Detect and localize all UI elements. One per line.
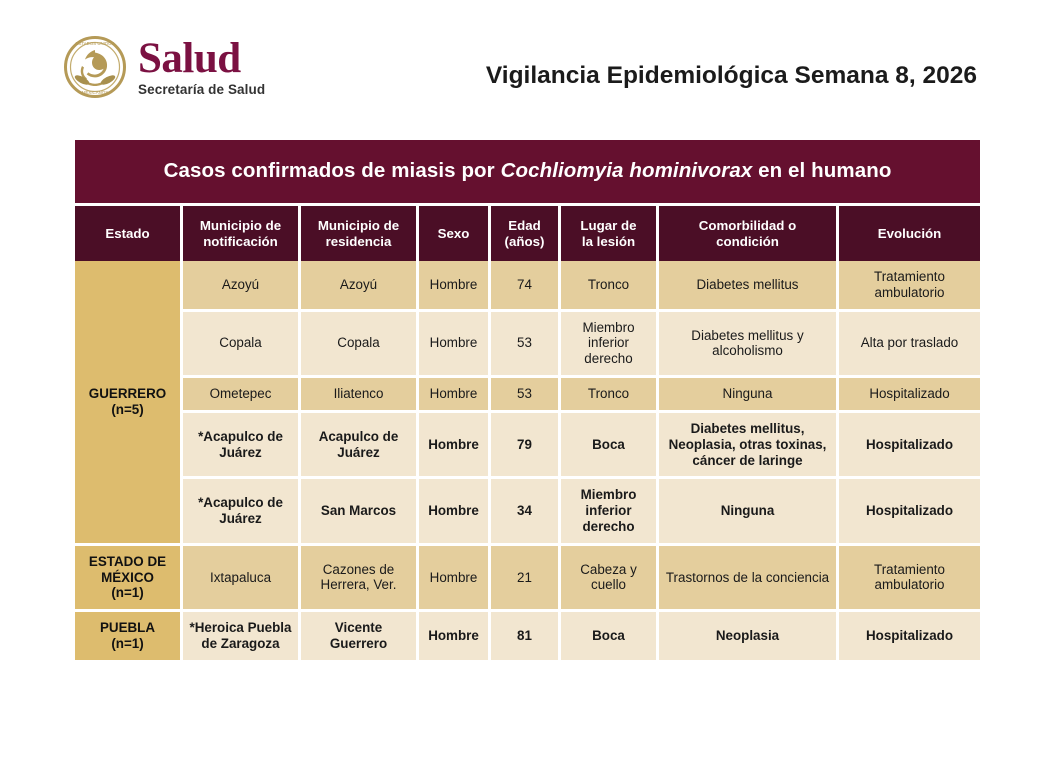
state-count: (n=1) xyxy=(111,636,143,651)
table-row: *Acapulco de Juárez San Marcos Hombre 34… xyxy=(75,479,980,545)
cell-comorbilidad: Ninguna xyxy=(659,479,839,545)
salud-brand: ESTADOS UNIDOS MEXICANOS Salud Secretarí… xyxy=(64,36,265,98)
column-header-municipio-notificacion-line1: Municipio de xyxy=(200,218,281,233)
cell-edad: 79 xyxy=(491,413,561,479)
page-root: ESTADOS UNIDOS MEXICANOS Salud Secretarí… xyxy=(0,0,1055,761)
cell-municipio-notificacion: *Heroica Puebla de Zaragoza xyxy=(183,612,301,660)
table-title-prefix: Casos confirmados de miasis por xyxy=(164,159,501,182)
column-header-sexo-line1: Sexo xyxy=(438,226,470,241)
table-column-header-row: Estado Municipio de notificación Municip… xyxy=(75,203,980,261)
state-cell-estado-de-mexico: ESTADO DE MÉXICO (n=1) xyxy=(75,546,183,612)
column-header-municipio-residencia-line2: residencia xyxy=(326,234,392,249)
cell-edad: 34 xyxy=(491,479,561,545)
table-title-suffix: en el humano xyxy=(752,159,891,182)
cell-edad: 53 xyxy=(491,312,561,378)
cell-municipio-residencia: San Marcos xyxy=(301,479,419,545)
cell-municipio-residencia: Cazones de Herrera, Ver. xyxy=(301,546,419,612)
cell-sexo: Hombre xyxy=(419,479,491,545)
cell-comorbilidad: Neoplasia xyxy=(659,612,839,660)
column-header-lugar-lesion-line1: Lugar de xyxy=(580,218,636,233)
cell-sexo: Hombre xyxy=(419,312,491,378)
cell-sexo: Hombre xyxy=(419,546,491,612)
column-header-municipio-residencia: Municipio de residencia xyxy=(301,203,419,261)
state-count: (n=1) xyxy=(111,585,143,600)
cell-evolucion: Hospitalizado xyxy=(839,413,980,479)
cell-evolucion: Tratamiento ambulatorio xyxy=(839,546,980,612)
cell-lugar-lesion: Tronco xyxy=(561,261,659,312)
brand-subtitle: Secretaría de Salud xyxy=(138,82,265,97)
cell-lugar-lesion: Cabeza y cuello xyxy=(561,546,659,612)
cell-evolucion: Hospitalizado xyxy=(839,479,980,545)
cell-comorbilidad: Trastornos de la conciencia xyxy=(659,546,839,612)
table-row: ESTADO DE MÉXICO (n=1) Ixtapaluca Cazone… xyxy=(75,546,980,612)
column-header-edad: Edad (años) xyxy=(491,203,561,261)
column-header-evolucion: Evolución xyxy=(839,203,980,261)
brand-title: Salud xyxy=(138,37,265,81)
table-row: Copala Copala Hombre 53 Miembro inferior… xyxy=(75,312,980,378)
svg-text:MEXICANOS: MEXICANOS xyxy=(82,90,108,95)
column-header-estado: Estado xyxy=(75,203,183,261)
cell-municipio-notificacion: Ometepec xyxy=(183,378,301,413)
cell-municipio-notificacion: Azoyú xyxy=(183,261,301,312)
state-label: GUERRERO xyxy=(89,386,166,401)
cell-sexo: Hombre xyxy=(419,378,491,413)
cell-sexo: Hombre xyxy=(419,261,491,312)
column-header-lugar-lesion-line2: la lesión xyxy=(582,234,635,249)
cell-comorbilidad: Diabetes mellitus, Neoplasia, otras toxi… xyxy=(659,413,839,479)
table-row: PUEBLA (n=1) *Heroica Puebla de Zaragoza… xyxy=(75,612,980,660)
column-header-evolucion-line1: Evolución xyxy=(878,226,942,241)
cell-edad: 74 xyxy=(491,261,561,312)
cell-lugar-lesion: Miembro inferior derecho xyxy=(561,312,659,378)
cell-lugar-lesion: Boca xyxy=(561,413,659,479)
column-header-comorbilidad-line1: Comorbilidad o xyxy=(699,218,797,233)
cell-municipio-notificacion: Ixtapaluca xyxy=(183,546,301,612)
cell-evolucion: Hospitalizado xyxy=(839,612,980,660)
cell-lugar-lesion: Tronco xyxy=(561,378,659,413)
table-title-species: Cochliomyia hominivorax xyxy=(501,159,753,182)
cell-municipio-notificacion: *Acapulco de Juárez xyxy=(183,413,301,479)
cell-municipio-residencia: Azoyú xyxy=(301,261,419,312)
epidemiological-week-title: Vigilancia Epidemiológica Semana 8, 2026 xyxy=(486,62,977,90)
column-header-comorbilidad: Comorbilidad o condición xyxy=(659,203,839,261)
table-row: GUERRERO (n=5) Azoyú Azoyú Hombre 74 Tro… xyxy=(75,261,980,312)
brand-text: Salud Secretaría de Salud xyxy=(138,37,265,97)
cell-evolucion: Alta por traslado xyxy=(839,312,980,378)
state-label: PUEBLA xyxy=(100,620,155,635)
column-header-lugar-lesion: Lugar de la lesión xyxy=(561,203,659,261)
column-header-municipio-notificacion: Municipio de notificación xyxy=(183,203,301,261)
table-title: Casos confirmados de miasis por Cochliom… xyxy=(75,140,980,203)
state-cell-puebla: PUEBLA (n=1) xyxy=(75,612,183,660)
column-header-estado-line1: Estado xyxy=(105,226,149,241)
cell-lugar-lesion: Miembro inferior derecho xyxy=(561,479,659,545)
cell-comorbilidad: Diabetes mellitus y alcoholismo xyxy=(659,312,839,378)
cell-edad: 53 xyxy=(491,378,561,413)
table-title-bar: Casos confirmados de miasis por Cochliom… xyxy=(75,140,980,203)
cell-evolucion: Tratamiento ambulatorio xyxy=(839,261,980,312)
cell-municipio-residencia: Iliatenco xyxy=(301,378,419,413)
state-cell-guerrero: GUERRERO (n=5) xyxy=(75,261,183,546)
table-body: GUERRERO (n=5) Azoyú Azoyú Hombre 74 Tro… xyxy=(75,261,980,660)
state-label: ESTADO DE MÉXICO xyxy=(89,554,166,585)
cell-municipio-notificacion: Copala xyxy=(183,312,301,378)
column-header-edad-line2: (años) xyxy=(505,234,545,249)
column-header-municipio-notificacion-line2: notificación xyxy=(203,234,278,249)
column-header-comorbilidad-line2: condición xyxy=(716,234,779,249)
cell-comorbilidad: Diabetes mellitus xyxy=(659,261,839,312)
table-row: *Acapulco de Juárez Acapulco de Juárez H… xyxy=(75,413,980,479)
cell-municipio-residencia: Copala xyxy=(301,312,419,378)
cases-table-container: Casos confirmados de miasis por Cochliom… xyxy=(75,140,980,660)
column-header-municipio-residencia-line1: Municipio de xyxy=(318,218,399,233)
cell-municipio-residencia: Vicente Guerrero xyxy=(301,612,419,660)
cell-edad: 81 xyxy=(491,612,561,660)
state-count: (n=5) xyxy=(111,402,143,417)
column-header-edad-line1: Edad xyxy=(508,218,541,233)
cell-lugar-lesion: Boca xyxy=(561,612,659,660)
cell-comorbilidad: Ninguna xyxy=(659,378,839,413)
escudo-nacional-mexicano-icon: ESTADOS UNIDOS MEXICANOS xyxy=(64,36,126,98)
confirmed-cases-table: Casos confirmados de miasis por Cochliom… xyxy=(75,140,980,660)
cell-sexo: Hombre xyxy=(419,612,491,660)
table-row: Ometepec Iliatenco Hombre 53 Tronco Ning… xyxy=(75,378,980,413)
page-header: ESTADOS UNIDOS MEXICANOS Salud Secretarí… xyxy=(0,0,1055,128)
cell-sexo: Hombre xyxy=(419,413,491,479)
svg-text:ESTADOS UNIDOS: ESTADOS UNIDOS xyxy=(76,41,115,46)
cell-municipio-residencia: Acapulco de Juárez xyxy=(301,413,419,479)
cell-evolucion: Hospitalizado xyxy=(839,378,980,413)
column-header-sexo: Sexo xyxy=(419,203,491,261)
cell-municipio-notificacion: *Acapulco de Juárez xyxy=(183,479,301,545)
cell-edad: 21 xyxy=(491,546,561,612)
